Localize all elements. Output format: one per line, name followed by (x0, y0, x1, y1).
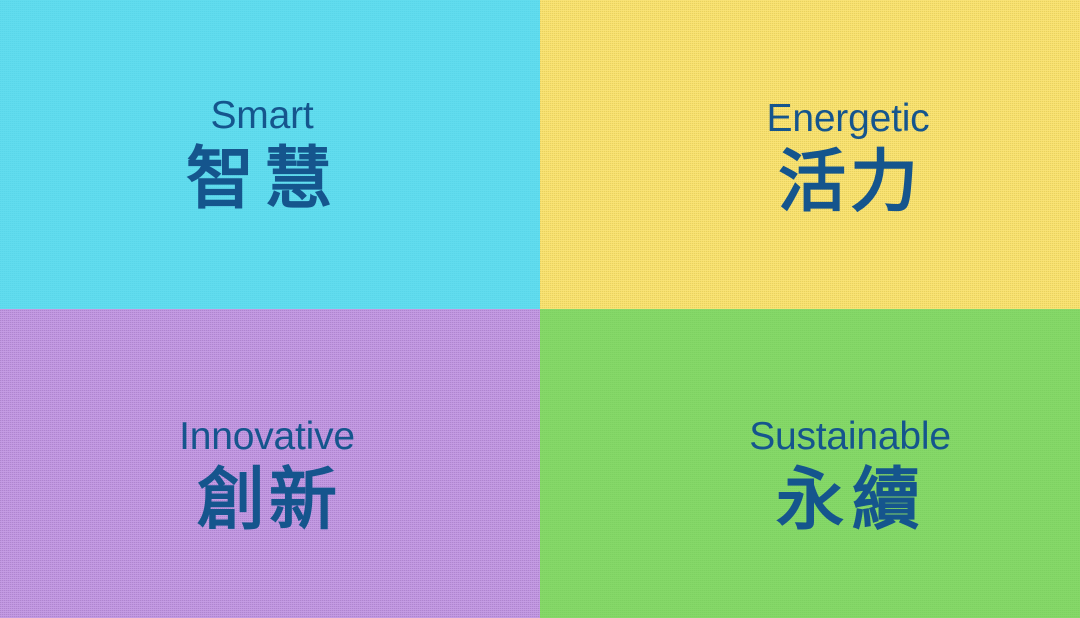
quadrant-energetic[interactable]: Energetic 活力 (540, 0, 1080, 309)
quadrant-energetic-label-cjk: 活力 (774, 146, 922, 221)
quadrant-smart-label-en: Smart (210, 96, 313, 137)
brand-values-grid: Smart 智慧 Energetic 活力 Innovative 創新 Sust… (0, 0, 1080, 618)
quadrant-sustainable[interactable]: Sustainable 永續 (540, 309, 1080, 618)
quadrant-smart-label-cjk: 智慧 (182, 143, 342, 218)
quadrant-energetic-label-en: Energetic (767, 99, 930, 140)
quadrant-innovative[interactable]: Innovative 創新 (0, 309, 540, 618)
quadrant-smart[interactable]: Smart 智慧 (0, 0, 540, 309)
quadrant-sustainable-label-cjk: 永續 (772, 464, 928, 539)
quadrant-innovative-labels: Innovative 創新 (179, 417, 355, 539)
quadrant-sustainable-labels: Sustainable 永續 (749, 417, 951, 539)
quadrant-smart-labels: Smart 智慧 (182, 96, 342, 218)
quadrant-innovative-label-cjk: 創新 (193, 464, 341, 539)
quadrant-sustainable-label-en: Sustainable (749, 417, 951, 458)
quadrant-innovative-label-en: Innovative (179, 417, 355, 458)
quadrant-energetic-labels: Energetic 活力 (767, 99, 930, 221)
